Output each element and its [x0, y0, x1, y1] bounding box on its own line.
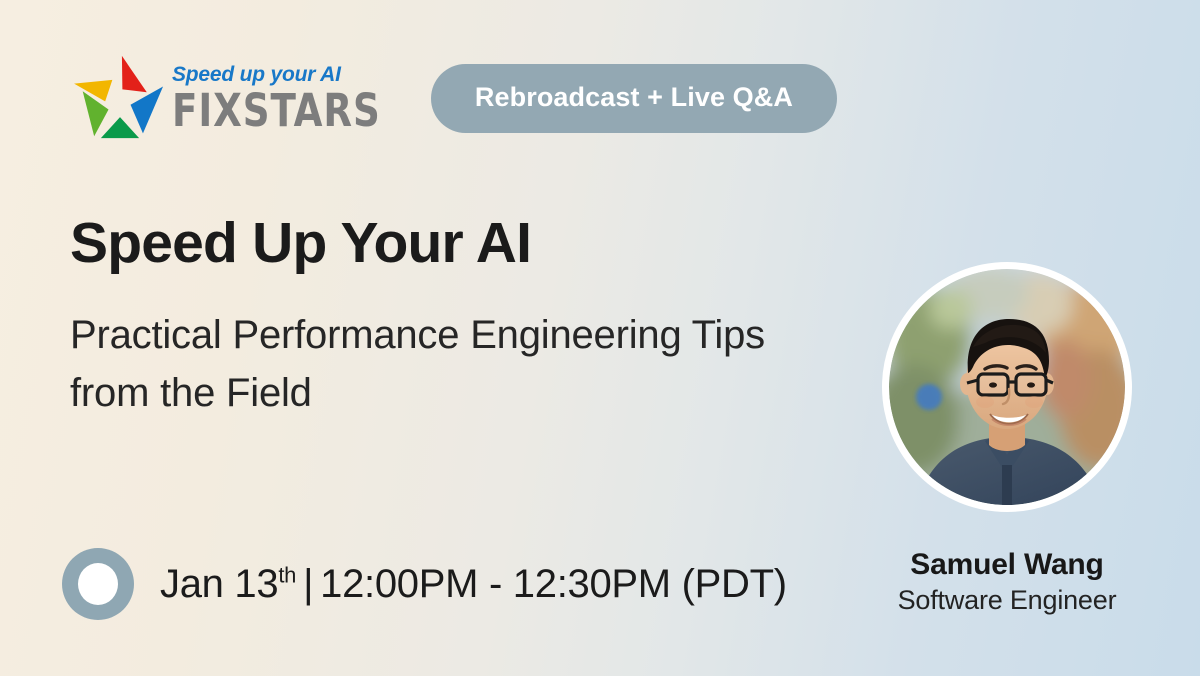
circle-bullet-icon	[62, 548, 134, 620]
avatar-ring	[882, 262, 1132, 512]
five-point-star-logo-icon	[72, 54, 168, 142]
webinar-promo-slide: Speed up your AI FIXSTARS Rebroadcast + …	[0, 0, 1200, 676]
page-subtitle: Practical Performance Engineering Tips f…	[70, 306, 830, 422]
header-row: Speed up your AI FIXSTARS Rebroadcast + …	[72, 52, 1200, 144]
speaker-block: Samuel Wang Software Engineer	[862, 262, 1152, 618]
status-badge: Rebroadcast + Live Q&A	[431, 64, 837, 133]
event-date-ordinal: th	[278, 562, 296, 587]
event-time-range: 12:00PM - 12:30PM (PDT)	[320, 562, 787, 606]
logo-wordmark: FIXSTARS	[172, 88, 381, 133]
circle-bullet-inner	[78, 563, 118, 605]
speaker-title: Software Engineer	[862, 583, 1152, 618]
event-datetime-row: Jan 13th|12:00PM - 12:30PM (PDT)	[62, 548, 787, 620]
speaker-name: Samuel Wang	[862, 548, 1152, 583]
avatar	[889, 269, 1125, 505]
event-datetime-text: Jan 13th|12:00PM - 12:30PM (PDT)	[160, 562, 787, 607]
page-title: Speed Up Your AI	[70, 214, 531, 274]
logo-wordmark-block: Speed up your AI FIXSTARS	[172, 64, 399, 133]
event-date: Jan 13	[160, 562, 278, 606]
logo-tagline: Speed up your AI	[172, 64, 399, 85]
event-separator: |	[296, 562, 320, 606]
fixstars-logo[interactable]: Speed up your AI FIXSTARS	[72, 57, 399, 139]
